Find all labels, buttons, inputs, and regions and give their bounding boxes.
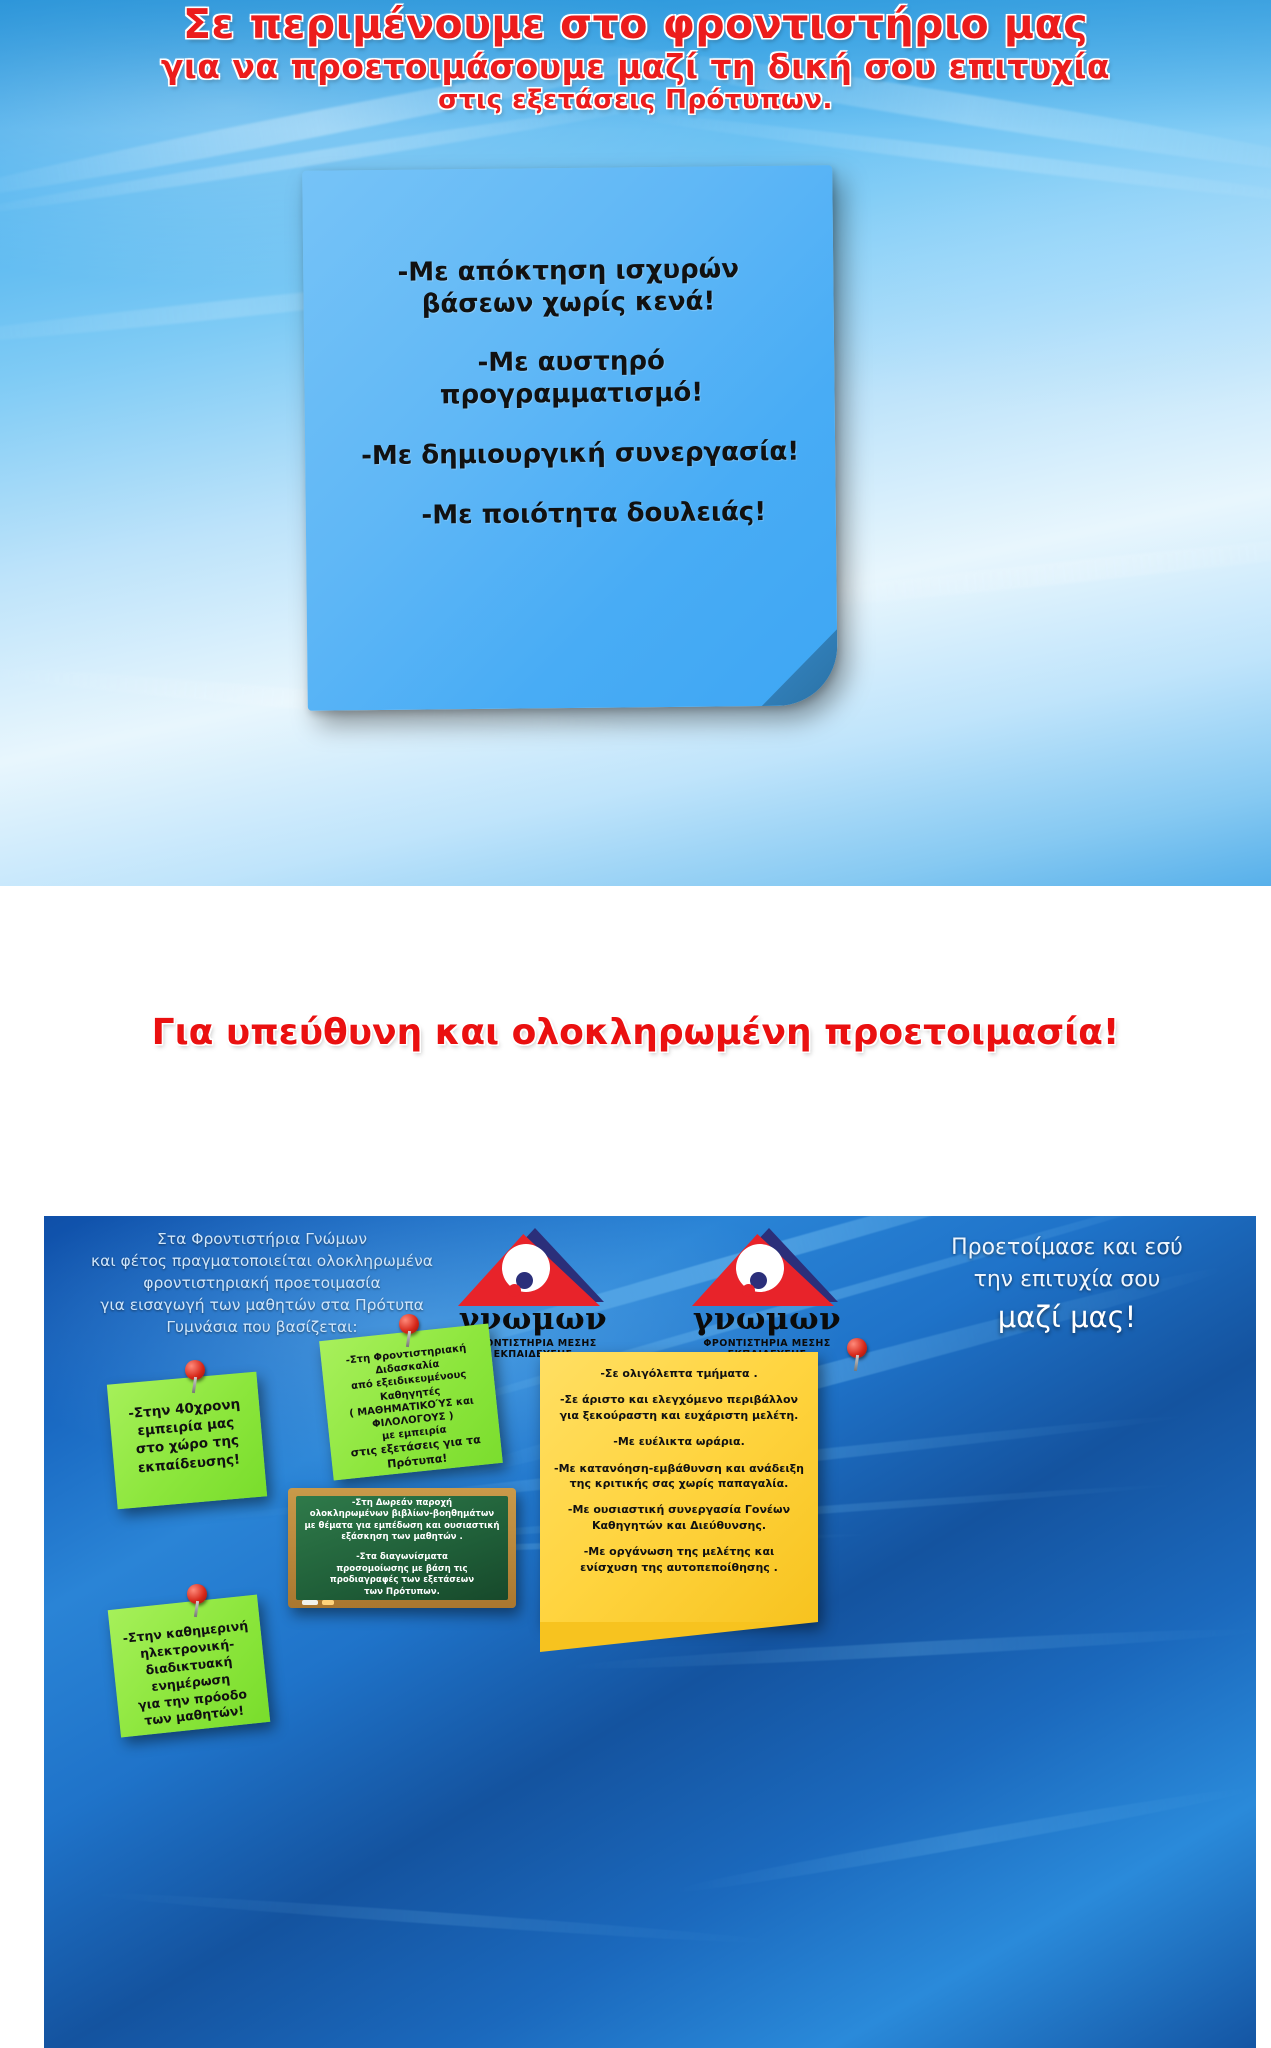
blackboard-line-3: με θέματα για εμπέδωση και ουσιαστική [304,1521,499,1533]
blackboard-text: -Στη Δωρεάν παροχή ολοκληρωμένων βιβλίων… [304,1498,499,1599]
note-yellow-item-2: -Σε άριστο και ελεγχόμενο περιβάλλον για… [554,1392,804,1423]
chalk-icon [302,1600,318,1605]
intro-line-2: και φέτος πραγματοποιείται ολοκληρωμένα [62,1250,462,1272]
pushpin-needle [194,1601,199,1617]
poster-headline: Σε περιμένουμε στο φροντιστήριο μας για … [0,4,1271,113]
red-dot-icon [742,1284,755,1297]
blue-note-card: -Με απόκτηση ισχυρών βάσεων χωρίς κενά! … [305,168,835,708]
blackboard-line-7: προδιαγραφές των εξετάσεων [304,1575,499,1587]
poster-separator [0,1140,1271,1216]
sticky-notes-layer: -Στη Φροντιστηριακή Διδασκαλία από εξειδ… [44,1462,1256,2048]
note-yellow-item-4: -Με κατανόηση-εμβάθυνση και ανάδειξη της… [554,1461,804,1492]
pushpin-needle [854,1355,859,1371]
blackboard-line-6: προσομοίωσης με βάση τις [304,1564,499,1576]
cta-line-3: μαζί μας! [892,1296,1242,1340]
blue-card-bullet-3: -Με δημιουργική συνεργασία! [339,436,801,473]
pushpin-icon [182,1360,208,1394]
call-to-action-block: Προετοίμασε και εσύ την επιτυχία σου μαζ… [892,1232,1242,1339]
blue-card-content: -Με απόκτηση ισχυρών βάσεων χωρίς κενά! … [302,165,838,711]
pushpin-icon [396,1314,422,1348]
note-yellow-item-1: -Σε ολιγόλεπτα τμήματα . [554,1366,804,1381]
headline-line-1: Σε περιμένουμε στο φροντιστήριο μας [0,4,1271,45]
cta-line-1: Προετοίμασε και εσύ [892,1232,1242,1264]
note-yellow-item-5: -Με ουσιαστική συνεργασία Γονέων Καθηγητ… [554,1502,804,1533]
blue-card-bullet-4: -Με ποιότητα δουλειάς! [340,496,802,533]
chalk-icon [322,1600,334,1605]
note-yellow-item-3: -Με ευέλικτα ωράρια. [554,1434,804,1449]
brand-logo-right: γνωμων ΦΡΟΝΤΙΣΤΗΡΙΑ ΜΕΣΗΣ ΕΚΠΑΙΔΕΥΣΗΣ [682,1228,852,1360]
sticky-note-yellow-features: -Σε ολιγόλεπτα τμήματα . -Σε άριστο και … [540,1352,818,1622]
red-dot-icon [508,1284,521,1297]
blackboard-line-2: ολοκληρωμένων βιβλίων-βοηθημάτων [304,1509,499,1521]
headline-line-3: στις εξετάσεις Πρότυπων. [0,87,1271,113]
note-yellow-item-6: -Με οργάνωση της μελέτης και ενίσχυση τη… [554,1544,804,1575]
triangle-logo-icon [692,1228,842,1306]
headline-line-2: για να προετοιμάσουμε μαζί τη δική σου ε… [0,50,1271,83]
blue-card-bullet-1: -Με απόκτηση ισχυρών βάσεων χωρίς κενά! [337,254,800,322]
pushpin-icon [844,1338,870,1372]
cta-line-2: την επιτυχία σου [892,1264,1242,1296]
blackboard-line-5: -Στα διαγωνίσματα [304,1552,499,1564]
red-banner: Για υπεύθυνη και ολοκληρωμένη προετοιμασ… [0,1012,1271,1053]
bottom-poster: Στα Φροντιστήρια Γνώμων και φέτος πραγμα… [44,1212,1256,2048]
triangle-logo-icon [458,1228,608,1306]
intro-line-3: φροντιστηριακή προετοιμασία [62,1272,462,1294]
red-banner-text: Για υπεύθυνη και ολοκληρωμένη προετοιμασ… [152,1012,1120,1053]
pushpin-needle [406,1331,411,1347]
top-poster: Σε περιμένουμε στο φροντιστήριο μας για … [0,0,1271,886]
blackboard-line-4: εξάσκηση των μαθητών . [304,1532,499,1544]
pushpin-icon [184,1584,210,1618]
blackboard-line-1: -Στη Δωρεάν παροχή [304,1498,499,1510]
blackboard-line-8: των Πρότυπων. [304,1587,499,1599]
intro-line-4: για εισαγωγή των μαθητών στα Πρότυπα [62,1294,462,1316]
blackboard: -Στη Δωρεάν παροχή ολοκληρωμένων βιβλίων… [288,1488,516,1608]
blackboard-surface: -Στη Δωρεάν παροχή ολοκληρωμένων βιβλίων… [296,1496,508,1600]
pushpin-needle [192,1377,197,1393]
blue-card-bullet-2: -Με αυστηρό προγραμματισμό! [338,345,801,413]
logo-wordmark: γνωμων [682,1304,852,1335]
intro-line-1: Στα Φροντιστήρια Γνώμων [62,1228,462,1250]
note-yellow-text: -Σε ολιγόλεπτα τμήματα . -Σε άριστο και … [540,1352,818,1575]
